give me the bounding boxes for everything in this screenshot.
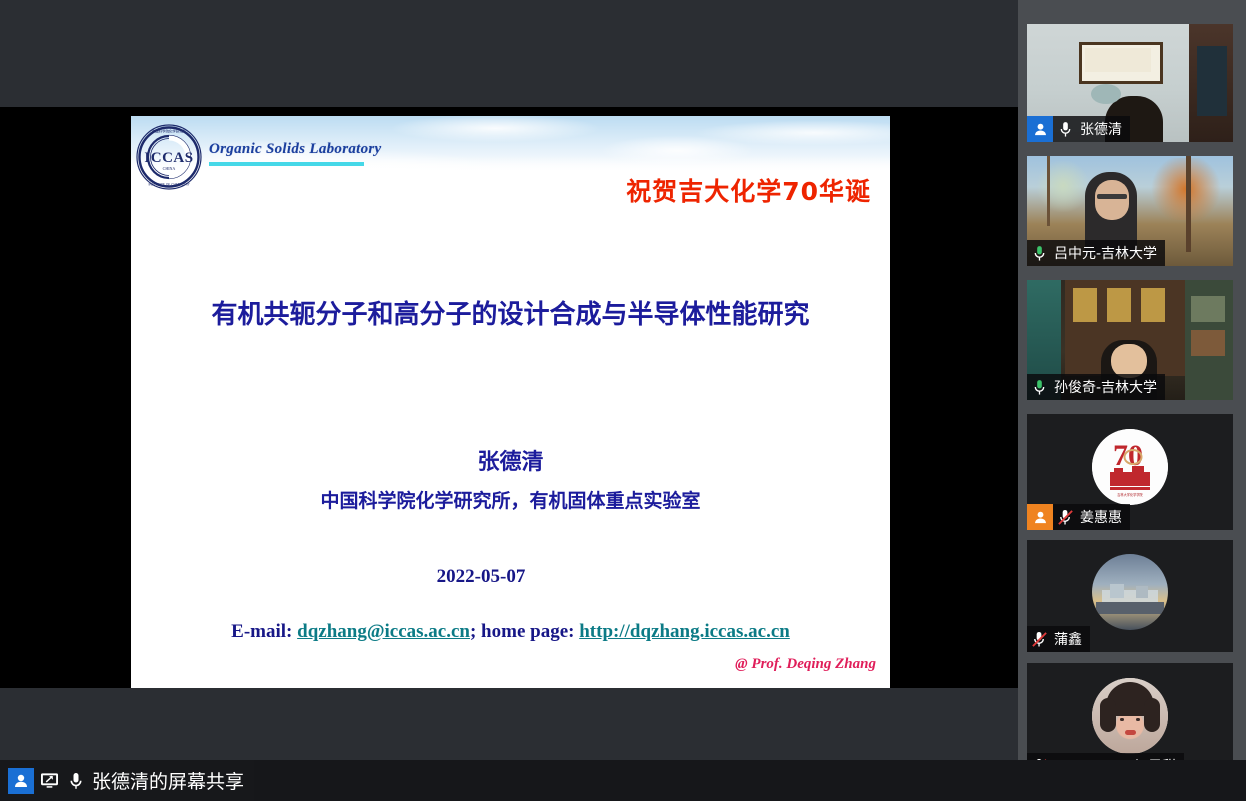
person-icon bbox=[1027, 116, 1053, 142]
slide-byline: @ Prof. Deqing Zhang bbox=[131, 656, 876, 673]
participant-name: 姜惠惠 bbox=[1080, 507, 1122, 527]
participant-name: 蒲鑫 bbox=[1054, 629, 1082, 649]
presentation-slide: ICCAS CHINA 中国科学院化学研究所 INSTITUTE OF CHEM… bbox=[131, 116, 890, 688]
participant-tile[interactable]: 70 吉林大学化学学院 姜惠惠 bbox=[1027, 414, 1233, 530]
svg-text:ICCAS: ICCAS bbox=[144, 150, 193, 166]
screen-share-icon bbox=[37, 768, 61, 794]
participant-name-bar: 蒲鑫 bbox=[1027, 626, 1090, 652]
microphone-muted-icon bbox=[1027, 626, 1051, 652]
person-icon bbox=[8, 768, 34, 794]
zoom-meeting-window: ICCAS CHINA 中国科学院化学研究所 INSTITUTE OF CHEM… bbox=[0, 0, 1246, 801]
participant-tile[interactable]: 蒲鑫 bbox=[1027, 540, 1233, 652]
participant-name: 吕中元-吉林大学 bbox=[1054, 243, 1157, 263]
lab-name-underline bbox=[209, 162, 364, 166]
slide-date: 2022-05-07 bbox=[131, 566, 831, 588]
email-label: E-mail: bbox=[231, 621, 297, 642]
slide-contact-line: E-mail: dqzhang@iccas.ac.cn; home page: … bbox=[131, 621, 890, 643]
slide-author-name: 张德清 bbox=[131, 444, 890, 476]
share-label: 张德清的屏幕共享 bbox=[92, 767, 244, 794]
participant-name: 张德清 bbox=[1080, 119, 1122, 139]
screen-share-indicator[interactable]: 张德清的屏幕共享 bbox=[0, 760, 254, 801]
email-link[interactable]: dqzhang@iccas.ac.cn bbox=[297, 621, 470, 642]
participant-tile[interactable]: 孙俊奇-吉林大学 bbox=[1027, 280, 1233, 400]
participant-name-bar: 张德清 bbox=[1027, 116, 1130, 142]
avatar bbox=[1092, 554, 1168, 630]
participant-name-bar: 吕中元-吉林大学 bbox=[1027, 240, 1165, 266]
participant-name: 孙俊奇-吉林大学 bbox=[1054, 377, 1157, 397]
avatar bbox=[1092, 678, 1168, 754]
shared-screen-stage[interactable]: ICCAS CHINA 中国科学院化学研究所 INSTITUTE OF CHEM… bbox=[0, 0, 1018, 760]
slide-main-title: 有机共轭分子和高分子的设计合成与半导体性能研究 bbox=[131, 294, 890, 331]
microphone-icon bbox=[1027, 240, 1051, 266]
svg-text:吉林大学化学学院: 吉林大学化学学院 bbox=[1117, 492, 1143, 497]
congratulation-headline: 祝贺吉大化学70华诞 bbox=[131, 172, 871, 208]
svg-text:中国科学院化学研究所: 中国科学院化学研究所 bbox=[152, 129, 187, 134]
participant-name-bar: 孙俊奇-吉林大学 bbox=[1027, 374, 1165, 400]
lab-name-label: Organic Solids Laboratory bbox=[209, 141, 382, 158]
participant-tile[interactable]: 吕中元-吉林大学 bbox=[1027, 156, 1233, 266]
participant-rail[interactable]: 张德清 吕中元-吉林大学 bbox=[1018, 0, 1246, 760]
svg-text:CHINA: CHINA bbox=[163, 166, 176, 171]
microphone-muted-icon bbox=[1053, 504, 1077, 530]
homepage-label: ; home page: bbox=[470, 621, 579, 642]
homepage-link[interactable]: http://dqzhang.iccas.ac.cn bbox=[579, 621, 790, 642]
bottom-bar: 张德清的屏幕共享 bbox=[0, 760, 1246, 801]
slide-affiliation: 中国科学院化学研究所，有机固体重点实验室 bbox=[131, 486, 890, 513]
microphone-icon bbox=[64, 768, 88, 794]
participant-tile[interactable]: 张德清 bbox=[1027, 24, 1233, 142]
microphone-icon bbox=[1027, 374, 1051, 400]
participant-name-bar: 姜惠惠 bbox=[1027, 504, 1130, 530]
avatar: 70 吉林大学化学学院 bbox=[1092, 429, 1168, 505]
person-icon bbox=[1027, 504, 1053, 530]
microphone-icon bbox=[1053, 116, 1077, 142]
